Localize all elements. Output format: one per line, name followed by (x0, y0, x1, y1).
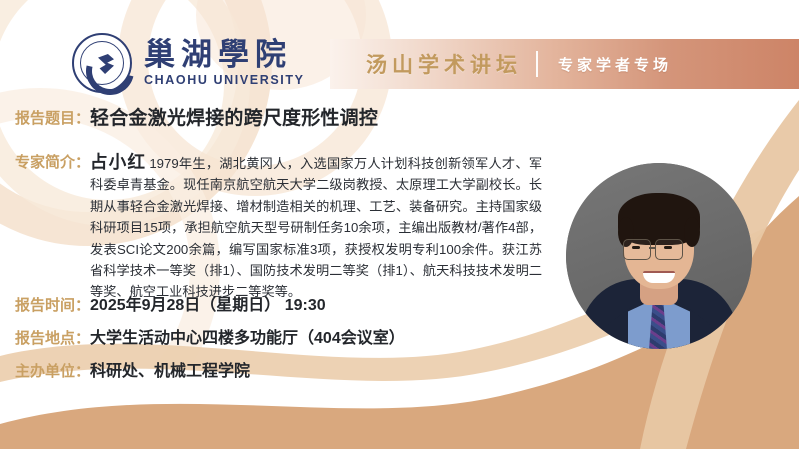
report-time-row: 报告时间： 2025年9月28日（星期日） 19:30 (15, 295, 326, 317)
speaker-bio-row: 专家简介： 占小红1979年生，湖北黄冈人，入选国家万人计划科技创新领军人才、军… (15, 152, 545, 303)
report-place-label: 报告地点： (15, 328, 90, 350)
speaker-bio-text: 1979年生，湖北黄冈人，入选国家万人计划科技创新领军人才、军科委卓青基金。现任… (90, 156, 542, 299)
report-title-row: 报告题目： 轻合金激光焊接的跨尺度形性调控 (15, 108, 378, 130)
report-title-value: 轻合金激光焊接的跨尺度形性调控 (90, 108, 378, 130)
report-place-value: 大学生活动中心四楼多功能厅（404会议室） (90, 328, 405, 350)
speaker-portrait (566, 163, 752, 349)
speaker-name: 占小红 (90, 152, 146, 172)
report-host-value: 科研处、机械工程学院 (90, 361, 250, 383)
report-place-row: 报告地点： 大学生活动中心四楼多功能厅（404会议室） (15, 328, 405, 350)
poster-canvas: 巢湖學院 CHAOHU UNIVERSITY 汤山学术讲坛 专家学者专场 报告题… (0, 0, 799, 449)
report-title-label: 报告题目： (15, 108, 90, 130)
banner-divider (536, 51, 538, 77)
report-time-value: 2025年9月28日（星期日） 19:30 (90, 295, 326, 317)
forum-banner: 汤山学术讲坛 专家学者专场 (330, 39, 799, 89)
university-seal-icon (72, 33, 132, 93)
report-time-label: 报告时间： (15, 295, 90, 317)
report-host-label: 主办单位： (15, 361, 90, 383)
forum-subtitle: 专家学者专场 (558, 54, 672, 75)
report-host-row: 主办单位： 科研处、机械工程学院 (15, 361, 250, 383)
speaker-bio-label: 专家简介： (15, 152, 90, 174)
speaker-bio-body: 占小红1979年生，湖北黄冈人，入选国家万人计划科技创新领军人才、军科委卓青基金… (90, 152, 542, 303)
university-name-en: CHAOHU UNIVERSITY (144, 73, 305, 87)
forum-title: 汤山学术讲坛 (366, 49, 522, 79)
university-name-cn: 巢湖學院 (144, 39, 305, 72)
university-logo: 巢湖學院 CHAOHU UNIVERSITY (72, 33, 305, 93)
